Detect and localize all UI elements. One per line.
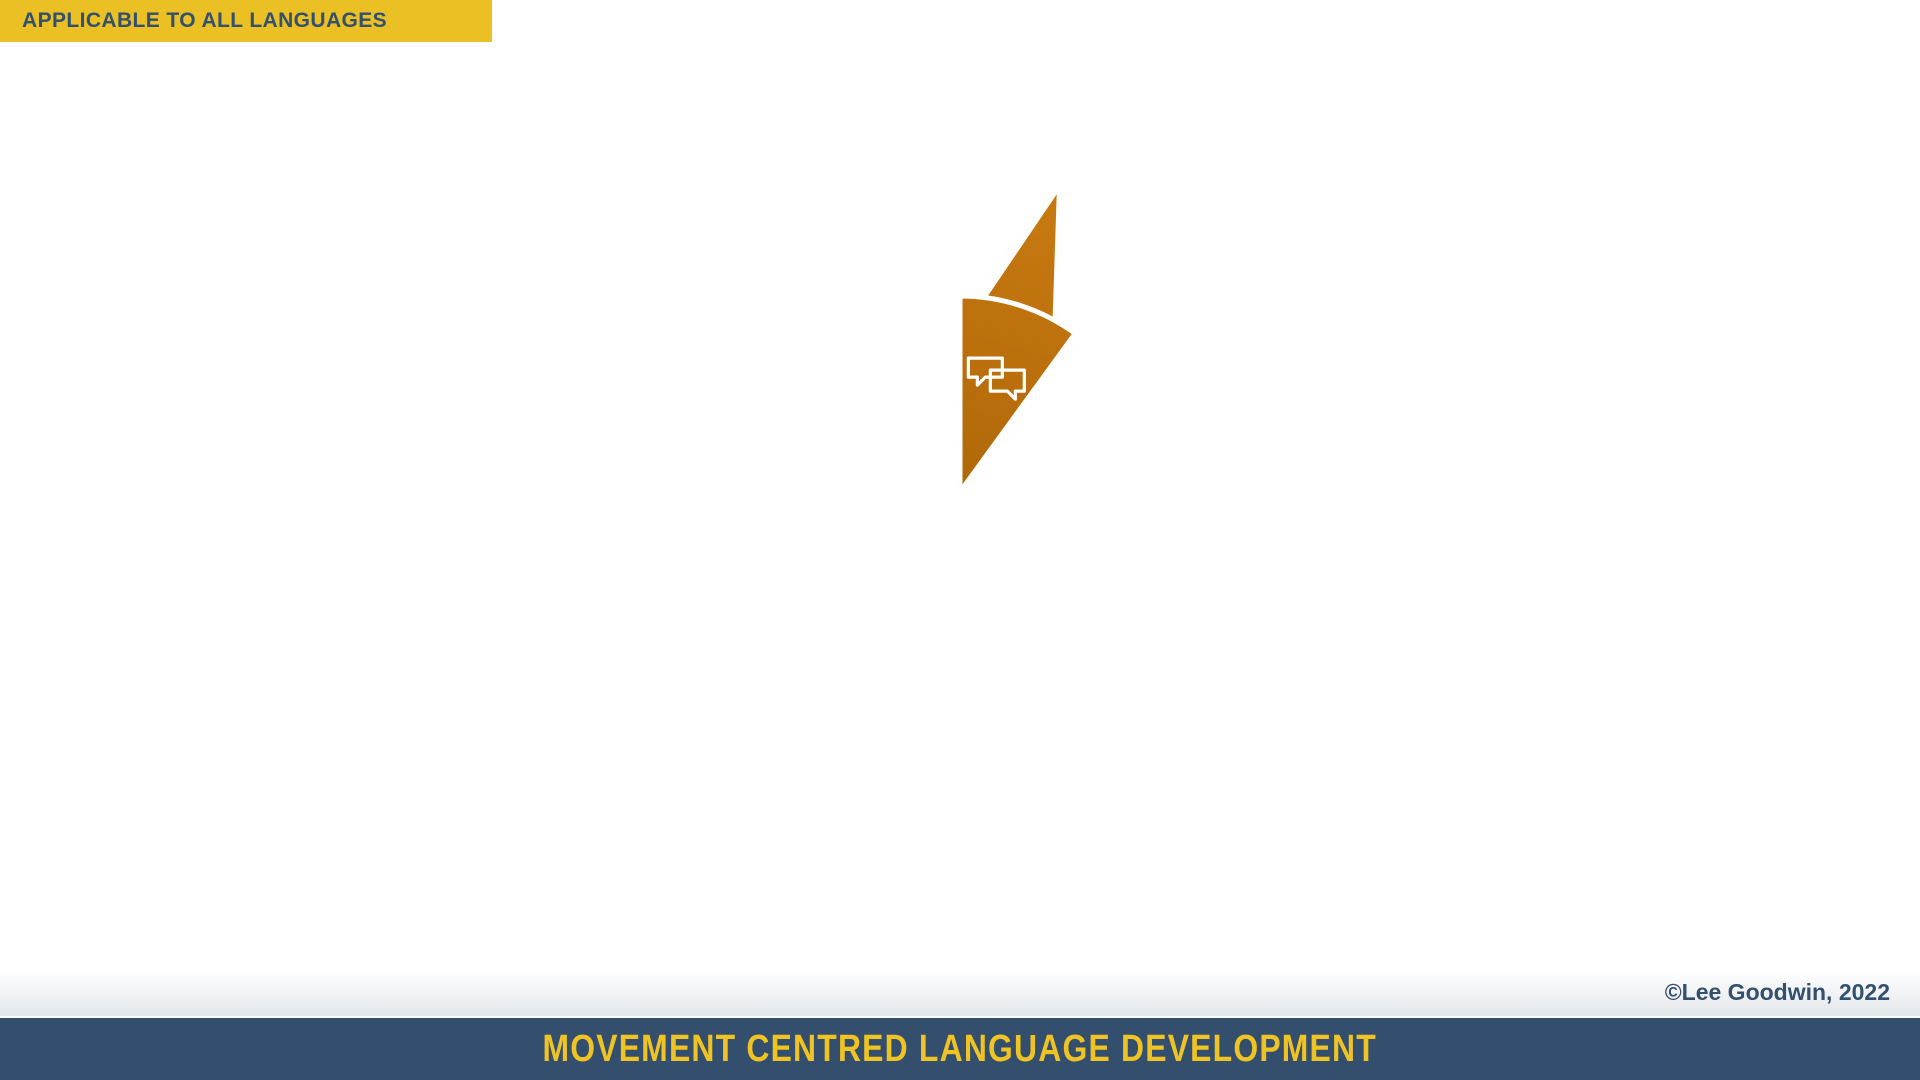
bottom-fade xyxy=(0,956,1920,1016)
hands-together-icon xyxy=(970,578,1022,630)
heart-pulse-icon xyxy=(834,397,895,451)
wheel-svg xyxy=(0,0,1920,1080)
bottom-band-label: MOVEMENT CENTRED LANGUAGE DEVELOPMENT xyxy=(543,1028,1377,1071)
segment-spike xyxy=(984,186,1060,321)
lightbulb-icon xyxy=(835,527,895,588)
bottom-title-band: MOVEMENT CENTRED LANGUAGE DEVELOPMENT xyxy=(0,1018,1920,1080)
applicable-to-all-languages-ribbon: APPLICABLE TO ALL LANGUAGES xyxy=(0,0,492,42)
scales-icon xyxy=(894,578,954,635)
network-people-icon xyxy=(813,461,871,519)
wheel-segment-conversation[interactable] xyxy=(960,186,1075,492)
wheel-segments-group xyxy=(960,186,1075,492)
person-open-arms-icon xyxy=(1050,463,1105,522)
hand-sprout-icon xyxy=(1027,404,1086,453)
wheel-icons-group xyxy=(813,356,1105,635)
ribbon-label: APPLICABLE TO ALL LANGUAGES xyxy=(22,9,387,33)
speech-bubbles-icon xyxy=(968,358,1024,399)
language-development-wheel xyxy=(0,0,1920,1080)
copyright-notice: ©Lee Goodwin, 2022 xyxy=(1665,979,1890,1006)
footprints-icon xyxy=(902,356,944,411)
tree-icon xyxy=(1035,533,1079,591)
segment-wedge xyxy=(960,296,1075,492)
